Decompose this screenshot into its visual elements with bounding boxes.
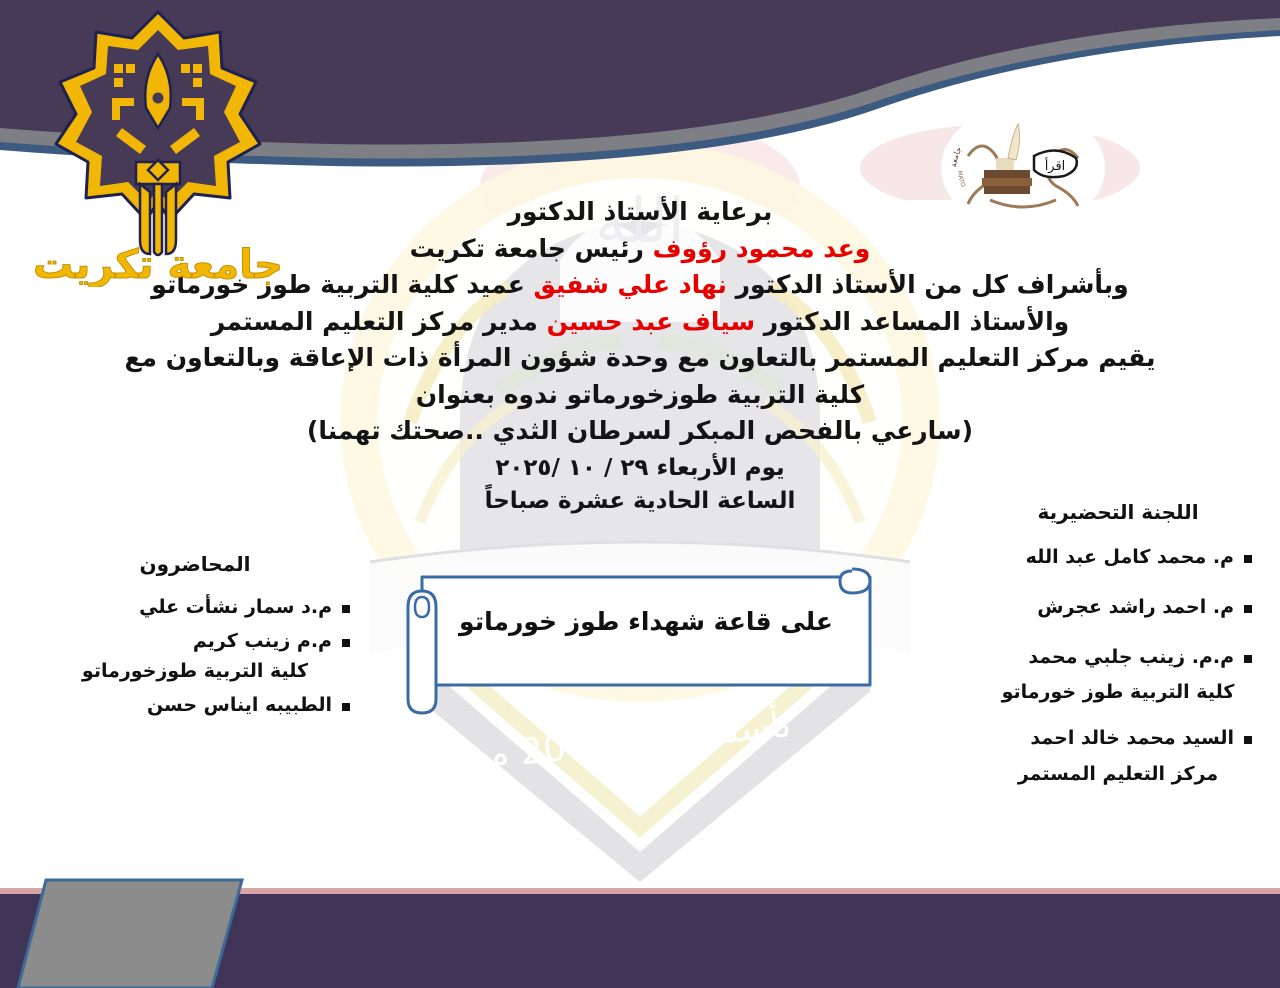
tikrit-university-logo: جامعة تكريت xyxy=(8,2,308,287)
president-role: رئيس جامعة تكريت xyxy=(410,234,653,263)
line-cohost: كلية التربية طوزخورماتو ندوه بعنوان xyxy=(120,379,1160,412)
list-item: الطبيبه ايناس حسن xyxy=(40,694,350,718)
committee-title: اللجنة التحضيرية xyxy=(984,500,1252,524)
director-role: مدير مركز التعليم المستمر xyxy=(211,307,547,336)
college-of-education-emblem: جامعة تكريت / كلية التربية ـ طوزخورماتو … xyxy=(938,104,1108,232)
lecturer-name: الطبيبه ايناس حسن xyxy=(147,694,332,718)
list-item: م.م زينب كريم xyxy=(40,630,350,654)
square-bullet-icon xyxy=(342,703,350,711)
venue-scroll-banner: على قاعة شهداء طوز خورماتو xyxy=(400,563,892,715)
lecturers-title: المحاضرون xyxy=(40,552,350,576)
list-item: السيد محمد خالد احمد xyxy=(984,727,1252,751)
preparatory-committee: اللجنة التحضيرية م. محمد كامل عبد الله م… xyxy=(984,500,1252,809)
footer-band xyxy=(0,868,1280,988)
list-item: م.م. زينب جلبي محمد xyxy=(984,646,1252,670)
square-bullet-icon xyxy=(342,605,350,613)
lecturers-section: المحاضرون م.د سمار نشأت علي م.م زينب كري… xyxy=(40,552,350,727)
lecturers-affiliation: كلية التربية طوزخورماتو xyxy=(40,660,350,682)
lecturers-list-2: الطبيبه ايناس حسن xyxy=(40,694,350,718)
list-item: م.د سمار نشأت علي xyxy=(40,596,350,620)
committee-affiliation-1: كلية التربية طوز خورماتو xyxy=(984,681,1252,703)
square-bullet-icon xyxy=(342,639,350,647)
lecturer-name: م.م زينب كريم xyxy=(193,630,332,654)
dean-name: نهاد علي شفيق xyxy=(533,270,726,299)
director-name: سياف عبد حسين xyxy=(547,307,756,336)
line-seminar-title: (سارعي بالفحص المبكر لسرطان الثدي ..صحتك… xyxy=(120,415,1160,448)
committee-member-name: م.م. زينب جلبي محمد xyxy=(1028,646,1234,670)
committee-member-name: م. محمد كامل عبد الله xyxy=(1026,546,1234,570)
venue-label: على قاعة شهداء طوز خورماتو xyxy=(400,607,892,636)
square-bullet-icon xyxy=(1244,736,1252,744)
emblem-center-glyph: اقرأ xyxy=(1045,157,1066,174)
dean-prefix: وبأشراف كل من الأستاذ الدكتور xyxy=(727,270,1129,299)
committee-member-name: السيد محمد خالد احمد xyxy=(1030,727,1234,751)
committee-member-list-2: السيد محمد خالد احمد xyxy=(984,727,1252,751)
square-bullet-icon xyxy=(1244,605,1252,613)
line-date: يوم الأربعاء ٢٩ / ١٠ /٢٠٢٥ xyxy=(120,454,1160,484)
president-name: وعد محمود رؤوف xyxy=(653,234,871,263)
director-prefix: والأستاذ المساعد الدكتور xyxy=(755,307,1069,336)
lecturers-list: م.د سمار نشأت علي م.م زينب كريم xyxy=(40,596,350,654)
line-supervisor-director: والأستاذ المساعد الدكتور سياف عبد حسين م… xyxy=(120,306,1160,339)
committee-member-list: م. محمد كامل عبد الله م. احمد راشد عجرش … xyxy=(984,546,1252,669)
list-item: م. محمد كامل عبد الله xyxy=(984,546,1252,570)
poster-canvas: الله مركز التعليم المستمر تأسس سنة 2004 … xyxy=(0,0,1280,988)
square-bullet-icon xyxy=(1244,555,1252,563)
committee-member-name: م. احمد راشد عجرش xyxy=(1037,596,1234,620)
list-item: م. احمد راشد عجرش xyxy=(984,596,1252,620)
university-wordmark: جامعة تكريت xyxy=(33,242,283,287)
line-organizer: يقيم مركز التعليم المستمر بالتعاون مع وح… xyxy=(120,342,1160,375)
lecturer-name: م.د سمار نشأت علي xyxy=(139,596,332,620)
square-bullet-icon xyxy=(1244,655,1252,663)
committee-affiliation-2: مركز التعليم المستمر xyxy=(984,763,1252,785)
